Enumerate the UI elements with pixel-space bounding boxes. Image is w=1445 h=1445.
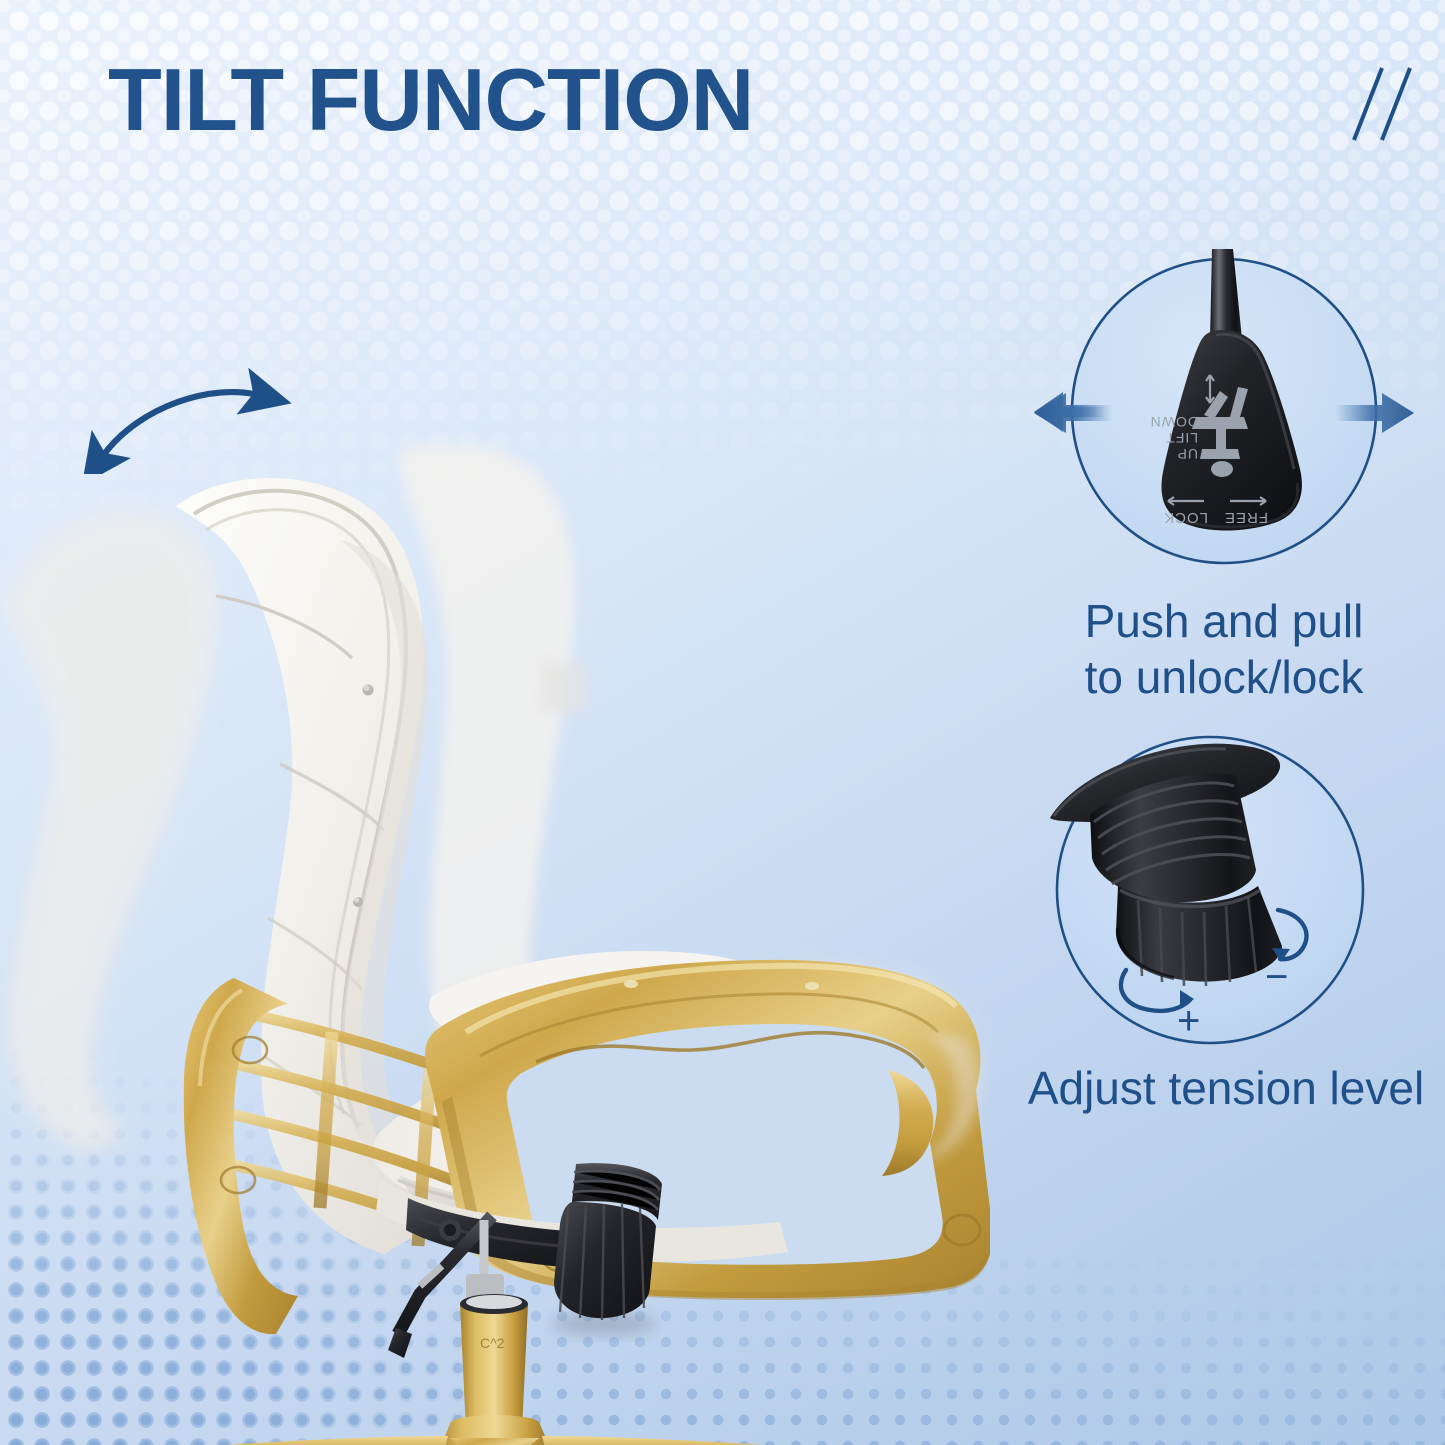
label-down: DOWN: [1150, 414, 1198, 430]
infographic-canvas: TILT FUNCTION: [0, 0, 1445, 1445]
callout-tension-knob: + − Adjust tension level: [1020, 718, 1432, 1128]
office-chair-illustration: C^2: [0, 390, 990, 1445]
label-up: UP: [1177, 446, 1198, 462]
tension-increase-symbol: +: [1177, 999, 1200, 1043]
label-lift: LIFT: [1165, 430, 1198, 446]
callout-tension-caption-line1: Adjust tension level: [1020, 1060, 1432, 1116]
page-title: TILT FUNCTION: [108, 52, 753, 147]
callout-tension-caption: Adjust tension level: [1020, 1060, 1432, 1116]
tension-decrease-symbol: −: [1265, 955, 1288, 999]
callout-lever-caption-line2: to unlock/lock: [1020, 649, 1428, 705]
svg-text:C^2: C^2: [480, 1335, 505, 1351]
label-free: FREE: [1224, 509, 1268, 526]
callout-tilt-lever: FREE LOCK UP LIFT: [1020, 243, 1428, 691]
callout-lever-caption: Push and pull to unlock/lock: [1020, 593, 1428, 705]
label-lock: LOCK: [1163, 509, 1208, 526]
callout-tension-figure: + −: [1020, 718, 1432, 1058]
callout-lever-caption-line1: Push and pull: [1020, 593, 1428, 649]
tilt-lever-knob-icon: FREE LOCK UP LIFT: [1020, 243, 1428, 585]
callout-lever-figure: FREE LOCK UP LIFT: [1020, 243, 1428, 585]
double-slash-icon: [1338, 62, 1422, 144]
chair-ghost-reclined-far: [6, 513, 215, 1152]
tension-adjust-knob-icon: + −: [1020, 718, 1432, 1058]
